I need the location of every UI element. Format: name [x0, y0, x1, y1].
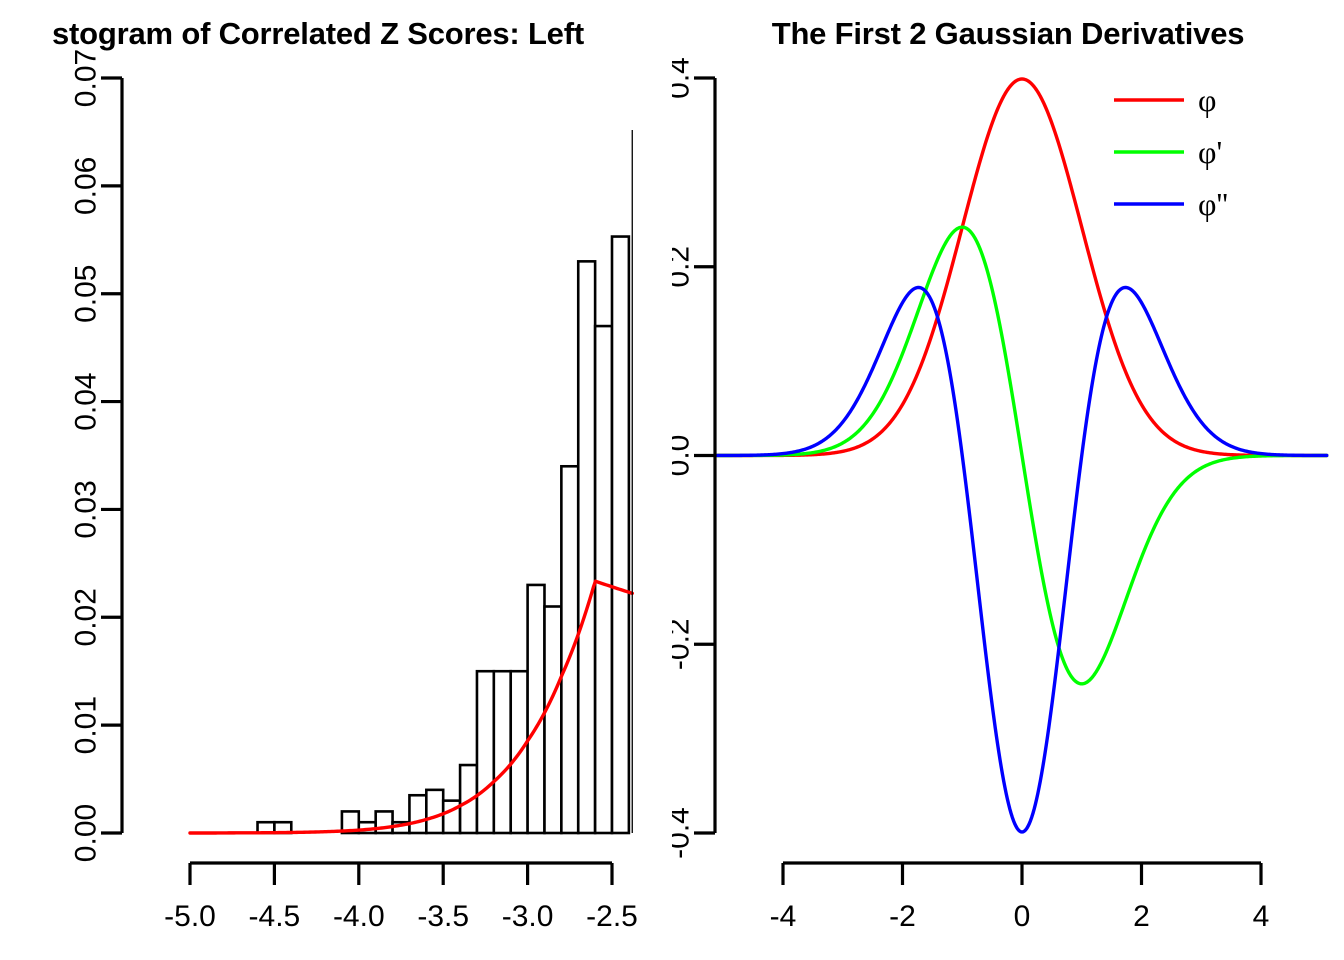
curve-phi-double-prime	[717, 287, 1326, 832]
y-axis-right	[694, 78, 715, 833]
histogram-bar	[494, 671, 511, 833]
y-tick-labels-right: -0.4-0.20.00.20.4	[672, 57, 696, 859]
x-tick-label: -2	[889, 900, 916, 933]
x-tick-label: -3.0	[502, 900, 554, 933]
x-axis-left	[190, 863, 612, 885]
curve-phi	[717, 79, 1326, 456]
y-tick-label: -0.2	[672, 618, 696, 670]
gaussian-svg: -0.4-0.20.00.20.4 -4-2024 φφ'φ''	[672, 0, 1344, 960]
histogram-title: stogram of Correlated Z Scores: Left	[0, 16, 654, 52]
legend: φφ'φ''	[1114, 82, 1228, 222]
histogram-bar	[426, 790, 443, 833]
y-axis-left	[101, 78, 122, 833]
legend-label: φ'	[1198, 134, 1222, 170]
y-tick-label: -0.4	[672, 807, 696, 859]
x-tick-labels-right: -4-2024	[770, 900, 1270, 933]
x-tick-label: 4	[1253, 900, 1270, 933]
gaussian-title: The First 2 Gaussian Derivatives	[672, 16, 1344, 52]
panel-histogram: stogram of Correlated Z Scores: Left 0.0…	[0, 0, 672, 960]
panel-gaussian-derivatives: The First 2 Gaussian Derivatives -0.4-0.…	[672, 0, 1344, 960]
x-tick-label: -2.5	[586, 900, 638, 933]
y-tick-label: 0.4	[672, 57, 696, 99]
histogram-bar	[544, 607, 561, 834]
histogram-bar	[612, 237, 629, 833]
y-tick-label: 0.07	[70, 49, 103, 107]
histogram-bar	[595, 326, 612, 833]
x-axis-right	[783, 863, 1261, 885]
x-tick-label: -4	[770, 900, 797, 933]
histogram-bar	[578, 261, 595, 833]
y-tick-label: 0.02	[70, 588, 103, 646]
y-tick-label: 0.06	[70, 157, 103, 215]
histogram-svg: 0.000.010.020.030.040.050.060.07 -5.0-4.…	[0, 0, 672, 960]
y-tick-label: 0.05	[70, 265, 103, 323]
y-tick-label: 0.03	[70, 480, 103, 538]
x-tick-label: 0	[1014, 900, 1031, 933]
x-tick-label: -4.0	[333, 900, 385, 933]
x-tick-label: 2	[1133, 900, 1150, 933]
x-tick-label: -5.0	[164, 900, 216, 933]
y-tick-label: 0.04	[70, 372, 103, 430]
legend-label: φ''	[1198, 186, 1228, 222]
y-tick-label: 0.01	[70, 696, 103, 754]
y-tick-labels-left: 0.000.010.020.030.040.050.060.07	[70, 49, 103, 862]
x-tick-label: -3.5	[417, 900, 469, 933]
legend-label: φ	[1198, 82, 1216, 118]
y-tick-label: 0.0	[672, 435, 696, 477]
histogram-bar	[409, 795, 426, 833]
x-tick-label: -4.5	[249, 900, 301, 933]
histogram-bar	[477, 671, 494, 833]
histogram-bar	[528, 585, 545, 833]
histogram-bar	[561, 466, 578, 833]
histogram-bars	[258, 237, 629, 833]
y-tick-label: 0.2	[672, 246, 696, 288]
x-tick-labels-left: -5.0-4.5-4.0-3.5-3.0-2.5	[164, 900, 638, 933]
figure-canvas: stogram of Correlated Z Scores: Left 0.0…	[0, 0, 1344, 960]
y-tick-label: 0.00	[70, 804, 103, 862]
